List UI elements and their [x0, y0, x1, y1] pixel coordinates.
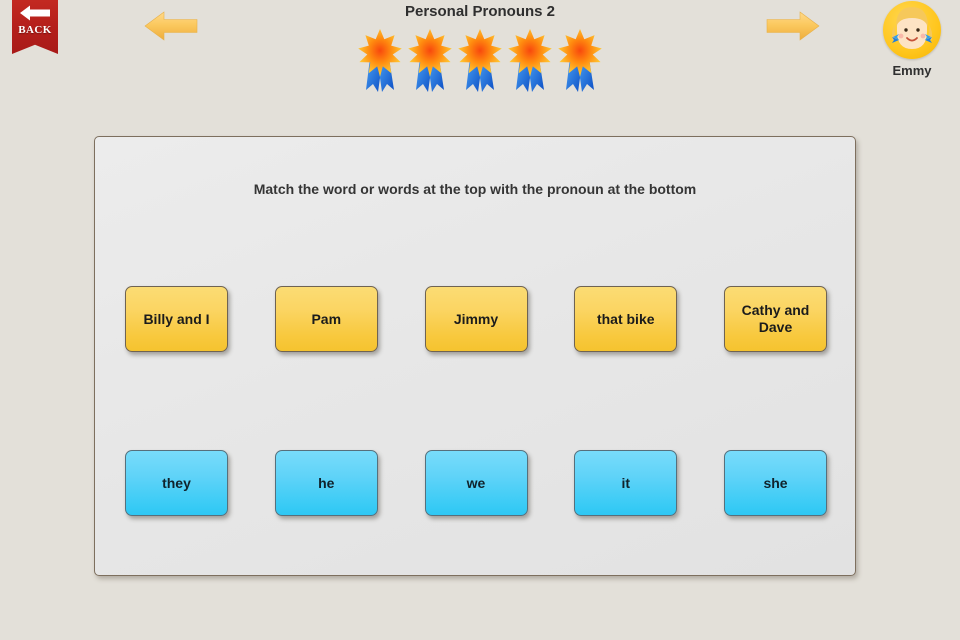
pronoun-card[interactable]: he — [275, 450, 378, 516]
pronoun-card[interactable]: it — [574, 450, 677, 516]
word-card[interactable]: Pam — [275, 286, 378, 352]
pronoun-card-row: they he we it she — [125, 450, 827, 516]
award-star-ribbon-icon — [356, 26, 404, 100]
pronoun-card[interactable]: we — [425, 450, 528, 516]
award-star-ribbon-icon — [456, 26, 504, 100]
word-card-row: Billy and I Pam Jimmy that bike Cathy an… — [125, 286, 827, 352]
word-card[interactable]: that bike — [574, 286, 677, 352]
award-star-ribbon-icon — [506, 26, 554, 100]
award-star-ribbon-icon — [556, 26, 604, 100]
pronoun-card-label: she — [758, 475, 792, 492]
award-star-ribbon-icon — [406, 26, 454, 100]
word-card[interactable]: Jimmy — [425, 286, 528, 352]
pronoun-card-label: we — [462, 475, 491, 492]
award-badges — [0, 26, 960, 100]
pronoun-card[interactable]: she — [724, 450, 827, 516]
pronoun-card[interactable]: they — [125, 450, 228, 516]
pronoun-card-label: they — [157, 475, 196, 492]
activity-panel: Match the word or words at the top with … — [94, 136, 856, 576]
word-card[interactable]: Cathy and Dave — [724, 286, 827, 352]
pronoun-card-label: he — [313, 475, 339, 492]
top-bar: BACK Personal Pronouns 2 — [0, 0, 960, 120]
user-profile[interactable]: Emmy — [878, 1, 946, 78]
user-name: Emmy — [878, 63, 946, 78]
word-card-label: Cathy and Dave — [725, 302, 826, 335]
pronoun-card-label: it — [616, 475, 635, 492]
girl-avatar-icon — [883, 1, 941, 59]
avatar[interactable] — [883, 1, 941, 59]
word-card-label: that bike — [592, 311, 660, 328]
word-card[interactable]: Billy and I — [125, 286, 228, 352]
page-title: Personal Pronouns 2 — [0, 3, 960, 20]
word-card-label: Billy and I — [138, 311, 214, 328]
instruction-text: Match the word or words at the top with … — [95, 181, 855, 197]
word-card-label: Pam — [306, 311, 346, 328]
word-card-label: Jimmy — [449, 311, 503, 328]
